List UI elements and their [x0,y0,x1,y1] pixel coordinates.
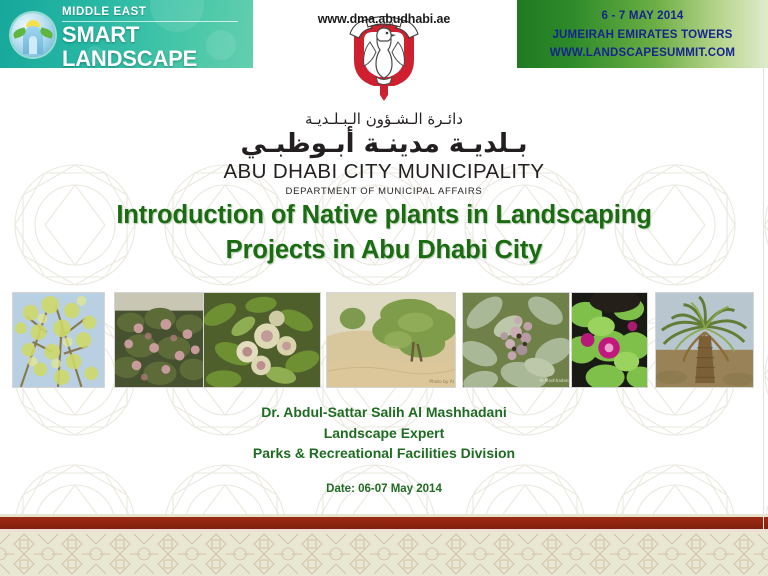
svg-text:Al Mashhadani: Al Mashhadani [540,378,569,383]
photo-calotropis-procera-plant: Al Mashhadani [462,292,570,388]
photo-date-palm-tree [655,292,754,388]
slide-title: Introduction of Native plants in Landsca… [34,198,734,268]
footer-band [0,532,768,576]
footer-geometric-pattern [0,532,768,576]
presentation-date: Date: 06-07 May 2014 [0,483,768,495]
photo-magenta-desert-flower [571,292,648,388]
plant-photo-strip: Photo by Al Mashhadani [0,292,768,390]
slide-right-edge-line [763,0,764,532]
presenter-role: Landscape Expert [0,423,768,444]
municipality-english-department: DEPARTMENT OF MUNICIPAL AFFAIRS [0,185,768,199]
photo-ghaf-trees-on-sand-dune: Photo by Al Mashhadani [326,292,456,388]
photo-acacia-tree-in-bloom [12,292,105,388]
footer-website-url[interactable]: www.dma.abudhabi.ae [0,12,768,26]
slide-title-line2: Projects in Abu Dhabi City [34,233,734,268]
municipality-arabic-department: دائـرة الـشـؤون الـبـلـديـة [0,110,768,129]
municipality-arabic-name: بـلديـة مدينـة أبـوظبـي [0,129,768,160]
presenter-division: Parks & Recreational Facilities Division [0,443,768,464]
photo-desert-shrub-pink-flowers [114,292,207,388]
slide-title-line1: Introduction of Native plants in Landsca… [34,198,734,233]
presentation-slide: MIDDLE EAST SMART LANDSCAPE SUMMIT 2014 … [0,0,768,576]
municipality-english-name: ABU DHABI CITY MUNICIPALITY [0,160,768,183]
svg-text:Photo by Al Mashhadani: Photo by Al Mashhadani [429,379,455,385]
presenter-credits: Dr. Abdul-Sattar Salih Al Mashhadani Lan… [0,402,768,464]
municipality-logo-block: الإمارات دائـرة الـشـؤون الـبـلـديـة بـل… [0,0,768,199]
presenter-name: Dr. Abdul-Sattar Salih Al Mashhadani [0,402,768,423]
photo-calotropis-flower-closeup [203,292,321,388]
footer-accent-bar [0,517,768,529]
